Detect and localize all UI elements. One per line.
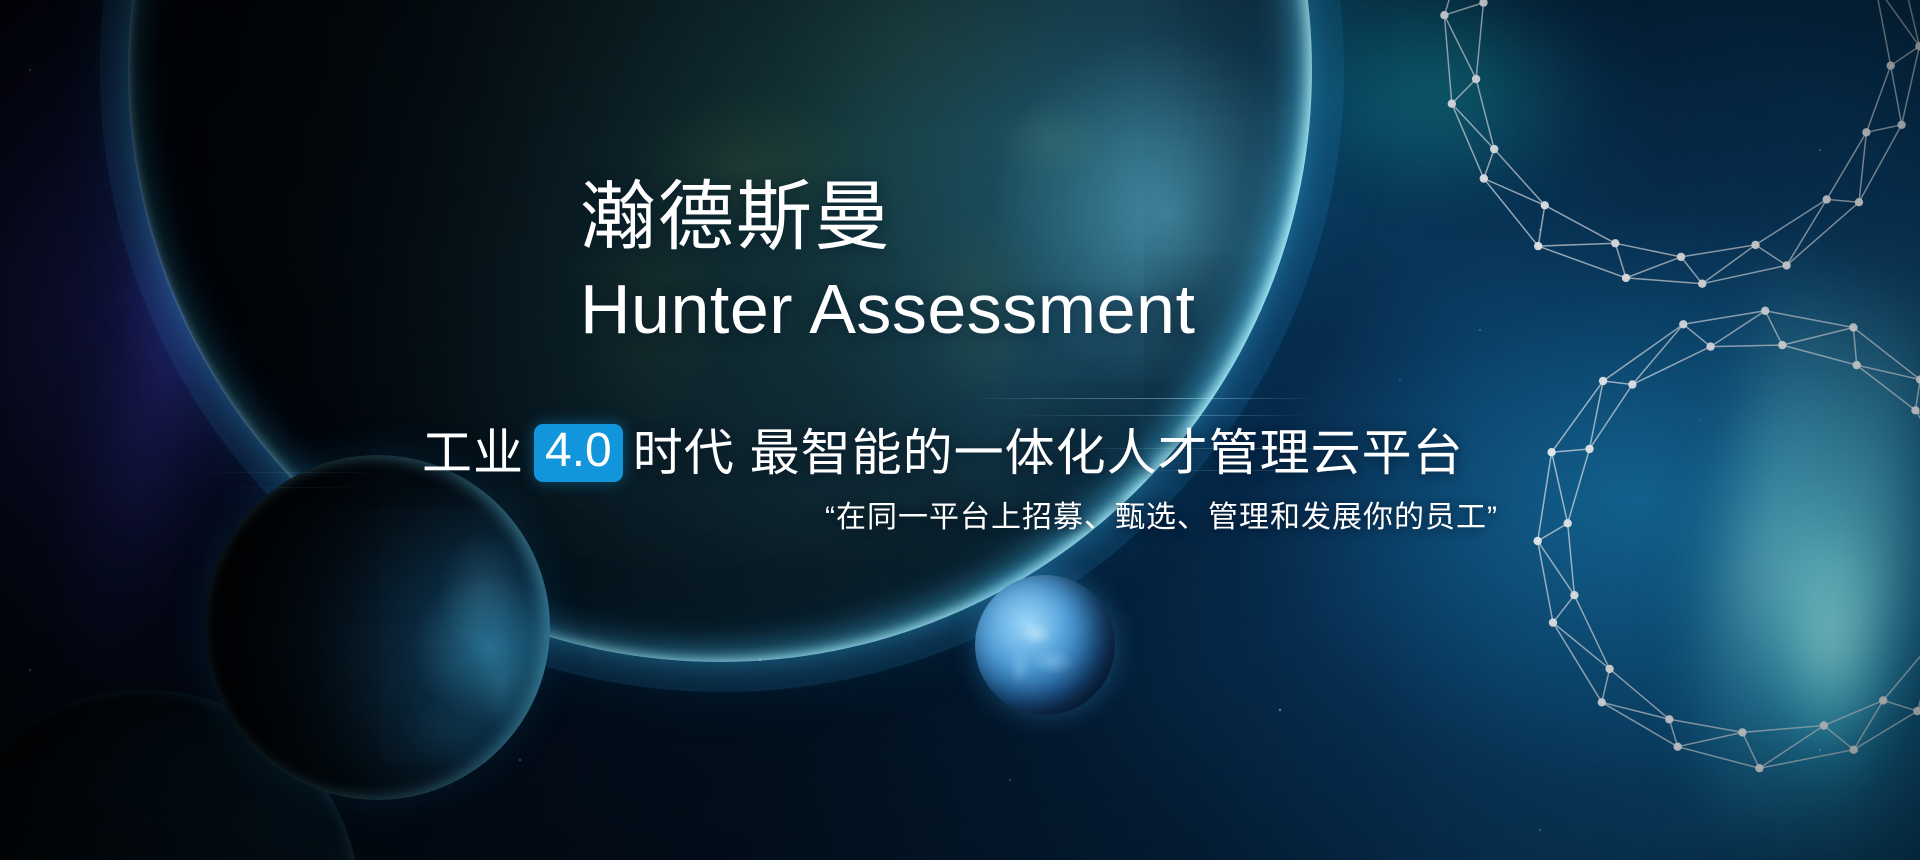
tagline-prefix: 工业 xyxy=(422,428,524,478)
moon-large-texture xyxy=(205,455,550,800)
moon-small-texture xyxy=(975,575,1115,715)
moon-small-graphic xyxy=(975,575,1115,715)
hero-banner: 瀚德斯曼 Hunter Assessment 工业 4.0 时代 最智能的一体化… xyxy=(0,0,1920,860)
industry-version-badge: 4.0 xyxy=(534,424,623,482)
hero-text-block: 瀚德斯曼 Hunter Assessment xyxy=(580,180,1680,345)
brand-name-chinese: 瀚德斯曼 xyxy=(580,180,1680,256)
brand-name-english: Hunter Assessment xyxy=(580,274,1680,345)
tagline-suffix: 时代 最智能的一体化人才管理云平台 xyxy=(633,428,1464,478)
hero-quote: “在同一平台上招募、甄选、管理和发展你的员工” xyxy=(825,500,1498,536)
tagline-row: 工业 4.0 时代 最智能的一体化人才管理云平台 xyxy=(422,424,1464,482)
moon-large-graphic xyxy=(205,455,550,800)
